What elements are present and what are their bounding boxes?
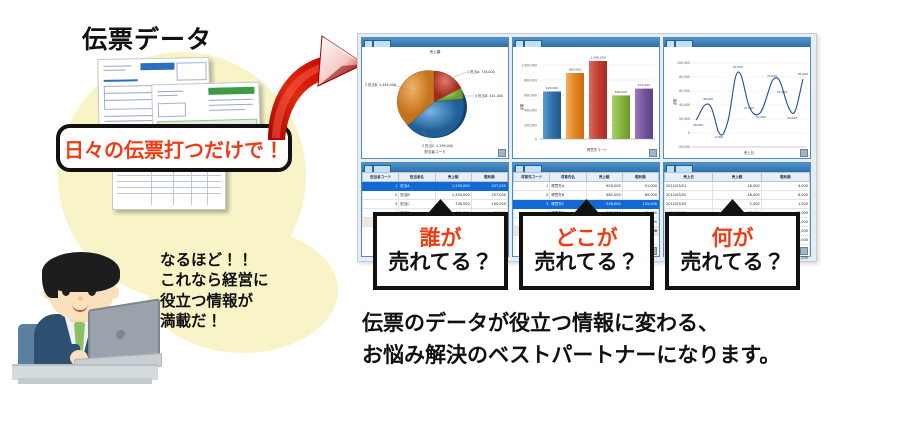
resize-grip[interactable] [800, 247, 808, 255]
svg-text:400,000: 400,000 [524, 109, 537, 113]
tagline-line-0: 伝票のデータが役立つ情報に変わる、 [362, 308, 882, 340]
table-row[interactable]: 2 担当B 1,494,000 257,000 [363, 191, 508, 200]
question-what: 何が 売れてる？ [665, 212, 800, 290]
window-titlebar[interactable] [362, 38, 508, 47]
cell-date: 2012/03/01 [665, 182, 713, 191]
svg-text:80,000: 80,000 [679, 75, 690, 79]
cell-name: 得意先A [550, 182, 586, 191]
eye-left [62, 286, 70, 296]
cell-profit: 4,000 [761, 182, 809, 191]
pie-chart-window[interactable]: 売上額 [361, 37, 509, 159]
question-what-rest: 売れてる？ [680, 251, 784, 275]
col-header-3[interactable]: 粗利額 [471, 173, 507, 182]
question-where-rest: 売れてる？ [534, 251, 638, 275]
person-speech-text: なるほど！！ これなら経営に 役立つ情報が 満載だ！ [160, 250, 350, 332]
curved-red-arrow-icon [252, 22, 367, 146]
line-chart-canvas: 100,000 80,000 60,000 40,000 20,000 0 -2… [664, 47, 810, 158]
svg-text:24,000: 24,000 [787, 116, 797, 120]
question-who-accent: 誰が [420, 227, 462, 251]
svg-text:0: 0 [688, 131, 690, 135]
window-titlebar[interactable] [664, 163, 810, 172]
cell-code: 2 [514, 191, 550, 200]
line-ylabel: 金額 [672, 98, 677, 105]
resize-grip[interactable] [498, 149, 506, 157]
cell-profit: 437,000 [471, 182, 507, 191]
svg-text:81,000: 81,000 [798, 72, 808, 76]
svg-text:48,000: 48,000 [703, 97, 713, 101]
svg-text:40,000: 40,000 [679, 103, 690, 107]
question-what-accent: 何が [712, 227, 754, 251]
svg-text:18,000: 18,000 [693, 123, 703, 127]
desk-edge [18, 378, 152, 384]
window-titlebar[interactable] [513, 163, 659, 172]
line-chart-svg: 100,000 80,000 60,000 40,000 20,000 0 -2… [664, 47, 810, 158]
window-titlebar[interactable] [362, 163, 508, 172]
tagline: 伝票のデータが役立つ情報に変わる、 お悩み解決のベストパートナーになります。 [362, 308, 882, 371]
line-xlabel: 売上日 [744, 150, 754, 155]
cell-profit: 129,000 [622, 200, 658, 209]
col-header-1[interactable]: 得意先名 [550, 173, 586, 182]
svg-text:629,000: 629,000 [546, 86, 558, 90]
svg-text:600,000: 600,000 [524, 94, 537, 98]
question-who: 誰が 売れてる？ [373, 212, 508, 290]
table-row[interactable]: 2012/03/01 18,000 4,000 [665, 182, 810, 191]
col-header-0[interactable]: 得意先コード [514, 173, 550, 182]
col-header-1[interactable]: 売上額 [713, 173, 761, 182]
svg-text:672,000: 672,000 [638, 83, 650, 87]
col-header-1[interactable]: 担当者名 [399, 173, 435, 182]
eye-right [88, 286, 96, 296]
cell-name: 担当C [399, 200, 435, 209]
table-row[interactable]: 2 得意先B 882,000 89,000 [514, 191, 659, 200]
question-where: どこが 売れてる？ [519, 212, 654, 290]
tagline-line-1: お悩み解決のベストパートナーになります。 [362, 340, 882, 372]
cell-sales: 629,000 [586, 182, 622, 191]
page-title: 伝票データ [82, 20, 262, 56]
businessman-illustration [12, 252, 158, 388]
question-where-accent: どこが [555, 227, 617, 251]
cell-code: 2 [363, 191, 399, 200]
table-row[interactable]: 1 得意先A 629,000 91,000 [514, 182, 659, 191]
svg-text:51,000: 51,000 [777, 90, 787, 94]
pie-label-0: 1 担当A: 716,000 [467, 69, 495, 74]
svg-text:52,000: 52,000 [756, 115, 766, 119]
table-row[interactable]: 2012/03/02 48,000 6,000 [665, 191, 810, 200]
svg-text:-20,000: -20,000 [678, 145, 690, 149]
bar-ylabel: 金額 [519, 103, 524, 110]
col-header-2[interactable]: 売上額 [435, 173, 471, 182]
cell-profit: 100,000 [471, 200, 507, 209]
pie-label-2: 3 担当C: 1,299,000 [422, 143, 453, 148]
cell-code: 1 [363, 182, 399, 191]
bar-chart-svg: 0 200,000 400,000 600,000 800,000 1,000,… [513, 47, 659, 158]
cell-profit: 1,000 [761, 200, 809, 209]
person-speech-line-0: なるほど！！ [160, 250, 350, 270]
table-row[interactable]: 1 担当A 1,299,000 437,000 [363, 182, 508, 191]
person-speech-line-1: これなら経営に [160, 270, 350, 290]
svg-text:1,000,000: 1,000,000 [521, 64, 537, 68]
cell-profit: 91,000 [622, 182, 658, 191]
table-header-row: 売上日 売上額 粗利額 [665, 173, 810, 182]
svg-text:2,000: 2,000 [715, 135, 723, 139]
col-header-3[interactable]: 粗利額 [622, 173, 658, 182]
person-speech-line-3: 満載だ！ [160, 311, 350, 331]
cell-sales: 882,000 [586, 191, 622, 200]
col-header-2[interactable]: 粗利額 [761, 173, 809, 182]
svg-text:87,000: 87,000 [733, 65, 743, 69]
poster-canvas: 伝票データ 日々の伝票打つだけで [0, 0, 900, 423]
cell-name: 得意先B [550, 191, 586, 200]
svg-text:580,000: 580,000 [615, 90, 627, 94]
window-titlebar[interactable] [513, 38, 659, 47]
svg-text:74,000: 74,000 [767, 74, 777, 78]
pie-label-3: 4 担当D: 441,000 [475, 93, 503, 98]
cell-profit: 6,000 [761, 191, 809, 200]
bar-xlabel: 得意先コード [587, 147, 607, 152]
table-header-row: 得意先コード 得意先名 売上額 粗利額 [514, 173, 659, 182]
pie-chart-xlabel: 担当者コード [362, 150, 508, 155]
cell-name: 担当A [399, 182, 435, 191]
cell-code: 3 [363, 200, 399, 209]
col-header-0[interactable]: 売上日 [665, 173, 713, 182]
cell-profit: 257,000 [471, 191, 507, 200]
svg-text:200,000: 200,000 [524, 124, 537, 128]
svg-text:27,000: 27,000 [744, 106, 754, 110]
cell-sales: 1,494,000 [435, 191, 471, 200]
cell-code: 1 [514, 182, 550, 191]
cell-date: 2012/03/03 [665, 200, 713, 209]
col-header-2[interactable]: 売上額 [586, 173, 622, 182]
svg-text:800,000: 800,000 [524, 79, 537, 83]
cell-profit: 89,000 [622, 191, 658, 200]
nose [78, 296, 83, 301]
question-who-rest: 売れてる？ [388, 251, 492, 275]
cell-date: 2012/03/02 [665, 191, 713, 200]
cell-code: 3 [514, 200, 550, 209]
pie-chart-canvas: 売上額 [362, 47, 508, 158]
person-speech-line-2: 役立つ情報が [160, 291, 350, 311]
resize-grip[interactable] [649, 149, 657, 157]
cell-sales: 48,000 [713, 191, 761, 200]
pie-label-1: 2 担当B: 1,494,000 [365, 82, 396, 87]
svg-text:60,000: 60,000 [679, 89, 690, 93]
cell-sales: 1,299,000 [435, 182, 471, 191]
svg-text:1,046,000: 1,046,000 [590, 56, 605, 60]
window-titlebar[interactable] [664, 38, 810, 47]
svg-text:880,000: 880,000 [569, 68, 581, 72]
callout-daily-entry-text: 日々の伝票打つだけで！ [64, 134, 284, 163]
pie-chart-title: 売上額 [362, 50, 508, 55]
cell-sales: 18,000 [713, 182, 761, 191]
bar-chart-canvas: 0 200,000 400,000 600,000 800,000 1,000,… [513, 47, 659, 158]
cell-name: 担当B [399, 191, 435, 200]
sideburn [42, 264, 58, 298]
pie-chart-svg: 1 担当A: 716,000 2 担当B: 1,494,000 3 担当C: 1… [362, 47, 508, 158]
svg-text:20,000: 20,000 [679, 117, 690, 121]
svg-text:100,000: 100,000 [677, 61, 690, 65]
table-header-row: 担当者コード 担当者名 売上額 粗利額 [363, 173, 508, 182]
resize-grip[interactable] [800, 149, 808, 157]
svg-text:0: 0 [535, 138, 537, 142]
line-chart-window[interactable]: 100,000 80,000 60,000 40,000 20,000 0 -2… [663, 37, 811, 159]
bar-chart-window[interactable]: 0 200,000 400,000 600,000 800,000 1,000,… [512, 37, 660, 159]
col-header-0[interactable]: 担当者コード [363, 173, 399, 182]
